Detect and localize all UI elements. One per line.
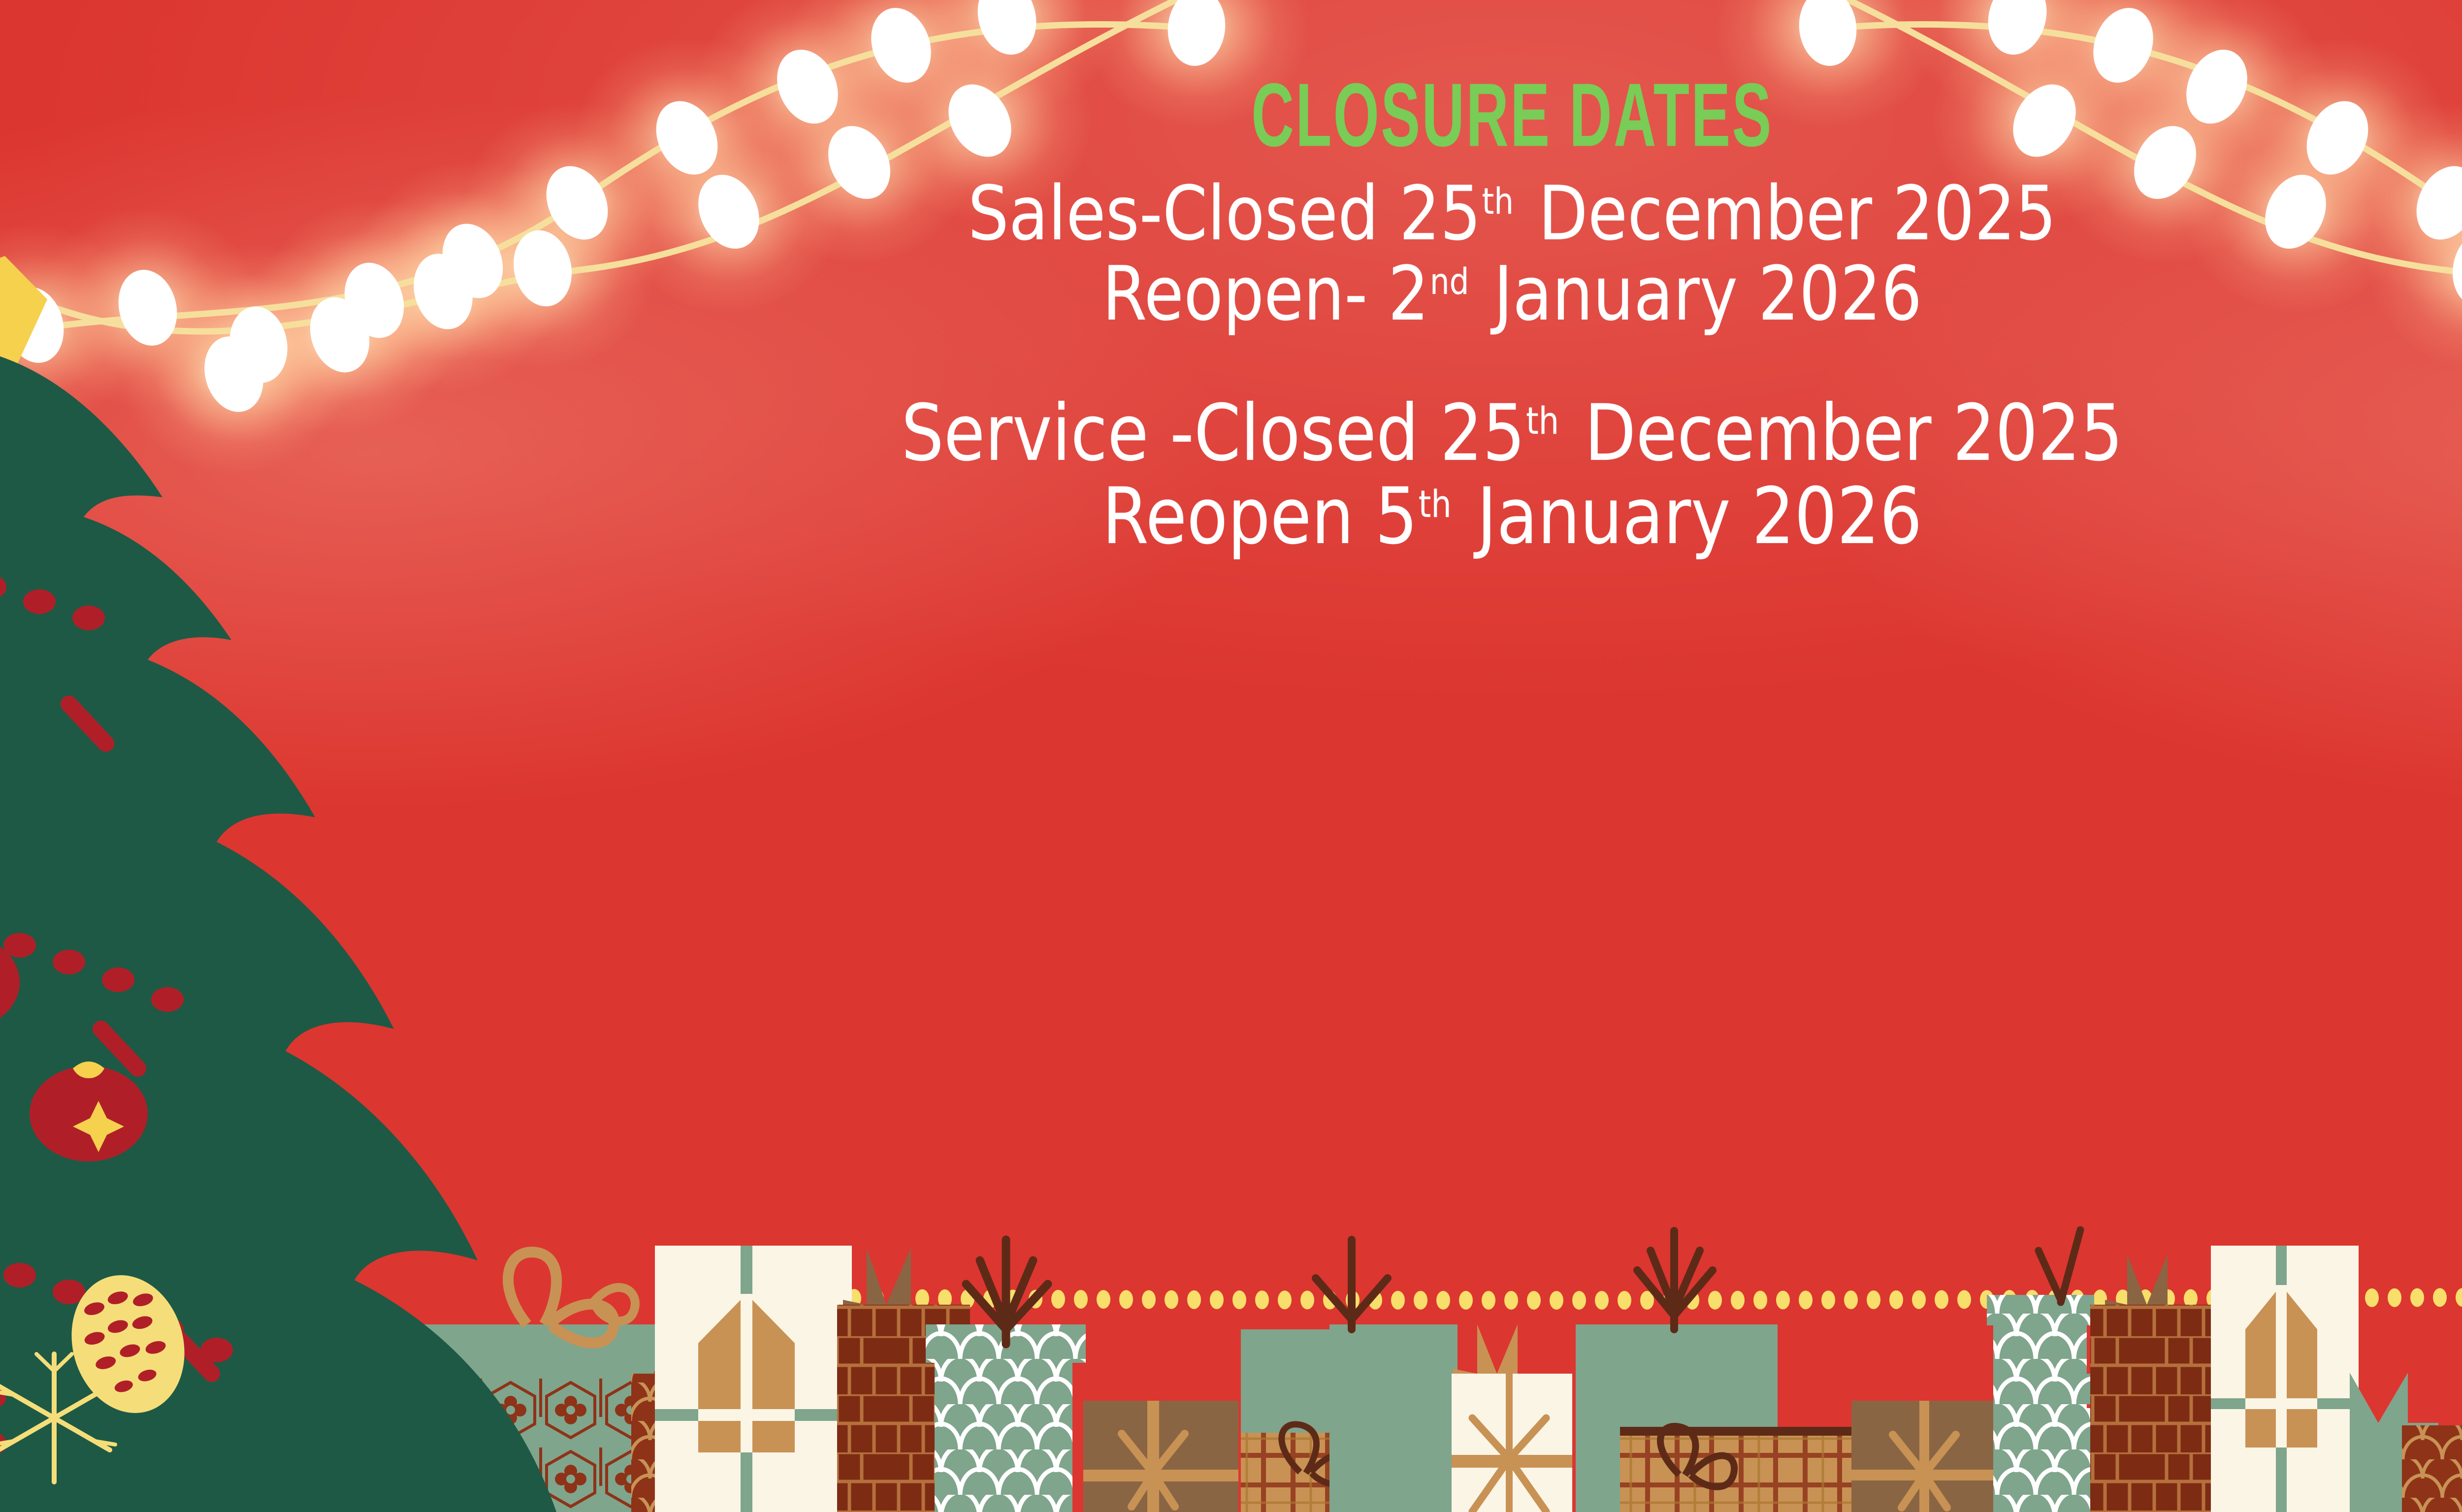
christmas-tree-right: [0, 0, 2462, 1512]
christmas-closure-banner: CLOSURE DATES Sales-Closed 25th December…: [0, 0, 2462, 1512]
